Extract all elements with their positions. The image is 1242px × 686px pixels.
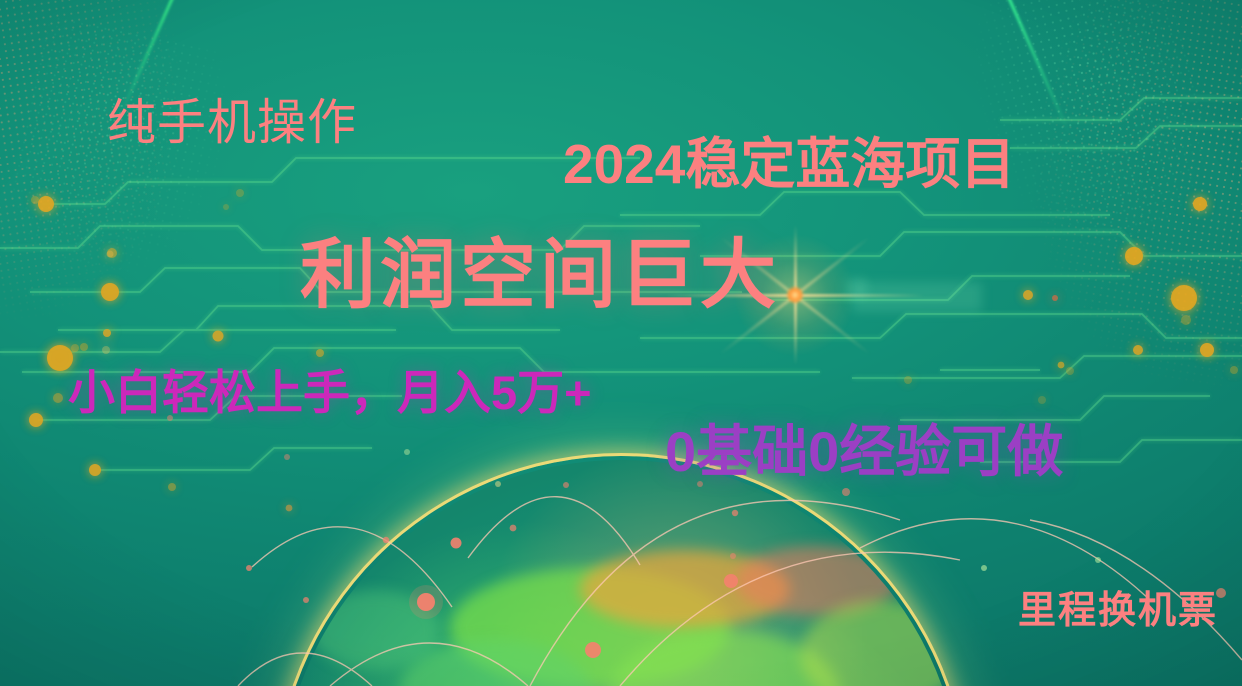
tagline-top-right: 2024稳定蓝海项目 [563,137,1015,192]
dot-wave-top-right-icon [871,0,1242,399]
light-streak-right-icon [1003,0,1071,134]
tagline-top-left: 纯手机操作 [107,99,357,148]
globe-rim-glow-icon [276,456,966,686]
flare-ghost-streak-icon [852,282,982,312]
watermark-label: 里程换机票 [1018,592,1218,630]
main-title: 利润空间巨大 [300,238,780,314]
subline-left: 小白轻松上手，月入5万+ [68,369,592,416]
poster-canvas: 纯手机操作 2024稳定蓝海项目 利润空间巨大 小白轻松上手，月入5万+ 0基础… [0,0,1242,686]
subline-right: 0基础0经验可做 [665,424,1063,480]
dot-wave-top-left-secondary-icon [0,12,341,397]
flare-ghost-icon [845,278,867,298]
globe-surface-icon [280,460,962,686]
